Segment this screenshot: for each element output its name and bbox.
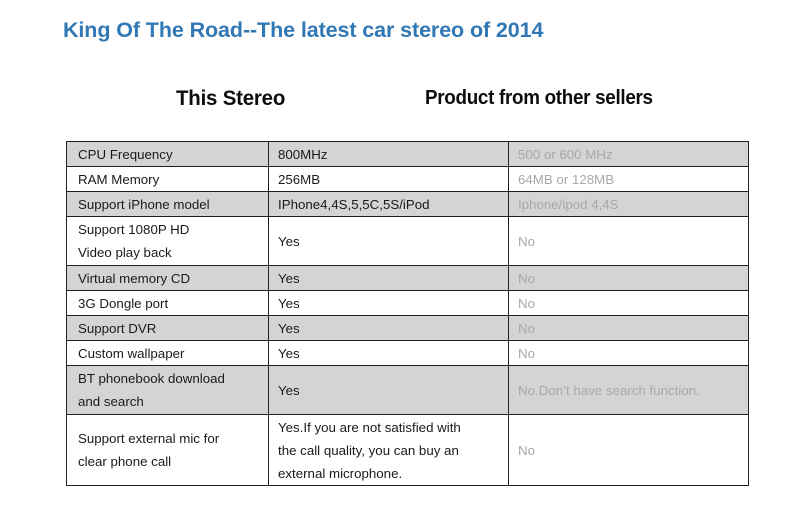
cell-ours: Yes <box>269 217 509 266</box>
cell-theirs: No <box>509 341 749 366</box>
page-title: King Of The Road--The latest car stereo … <box>63 18 543 43</box>
cell-feature: Custom wallpaper <box>67 341 269 366</box>
cell-theirs: No <box>509 291 749 316</box>
compare-header: This Stereo <box>0 76 800 134</box>
cell-feature: Support 1080P HD Video play back <box>67 217 269 266</box>
table-row: Custom wallpaperYesNo <box>67 341 749 366</box>
this-stereo-label: This Stereo <box>176 86 285 111</box>
table-row: BT phonebook download and searchYesNo.Do… <box>67 366 749 415</box>
cell-ours: Yes <box>269 291 509 316</box>
cell-ours: 800MHz <box>269 142 509 167</box>
cell-feature: Support iPhone model <box>67 192 269 217</box>
table-row: 3G Dongle portYesNo <box>67 291 749 316</box>
cell-ours: Yes <box>269 266 509 291</box>
comparison-table: CPU Frequency800MHz500 or 600 MHzRAM Mem… <box>66 141 749 486</box>
cell-ours: Yes <box>269 316 509 341</box>
table-row: RAM Memory256MB64MB or 128MB <box>67 167 749 192</box>
cell-theirs: No <box>509 415 749 486</box>
table-row: Support DVRYesNo <box>67 316 749 341</box>
table-row: Support external mic for clear phone cal… <box>67 415 749 486</box>
cell-feature: Support DVR <box>67 316 269 341</box>
cell-feature: CPU Frequency <box>67 142 269 167</box>
cell-feature: Support external mic for clear phone cal… <box>67 415 269 486</box>
cell-ours: Yes <box>269 366 509 415</box>
comparison-table-body: CPU Frequency800MHz500 or 600 MHzRAM Mem… <box>67 142 749 486</box>
table-row: Support 1080P HD Video play backYesNo <box>67 217 749 266</box>
cell-theirs: 64MB or 128MB <box>509 167 749 192</box>
cell-theirs: Iphone/ipod 4,4S <box>509 192 749 217</box>
cell-feature: BT phonebook download and search <box>67 366 269 415</box>
cell-ours: Yes <box>269 341 509 366</box>
cell-feature: 3G Dongle port <box>67 291 269 316</box>
table-row: Support iPhone modelIPhone4,4S,5,5C,5S/i… <box>67 192 749 217</box>
cell-theirs: No <box>509 266 749 291</box>
cell-theirs: No <box>509 316 749 341</box>
cell-ours: Yes.If you are not satisfied with the ca… <box>269 415 509 486</box>
table-row: Virtual memory CDYesNo <box>67 266 749 291</box>
cell-theirs: 500 or 600 MHz <box>509 142 749 167</box>
cell-ours: 256MB <box>269 167 509 192</box>
cell-feature: RAM Memory <box>67 167 269 192</box>
table-row: CPU Frequency800MHz500 or 600 MHz <box>67 142 749 167</box>
cell-feature: Virtual memory CD <box>67 266 269 291</box>
cell-ours: IPhone4,4S,5,5C,5S/iPod <box>269 192 509 217</box>
cell-theirs: No <box>509 217 749 266</box>
other-sellers-label: Product from other sellers <box>425 87 653 110</box>
cell-theirs: No.Don’t have search function. <box>509 366 749 415</box>
